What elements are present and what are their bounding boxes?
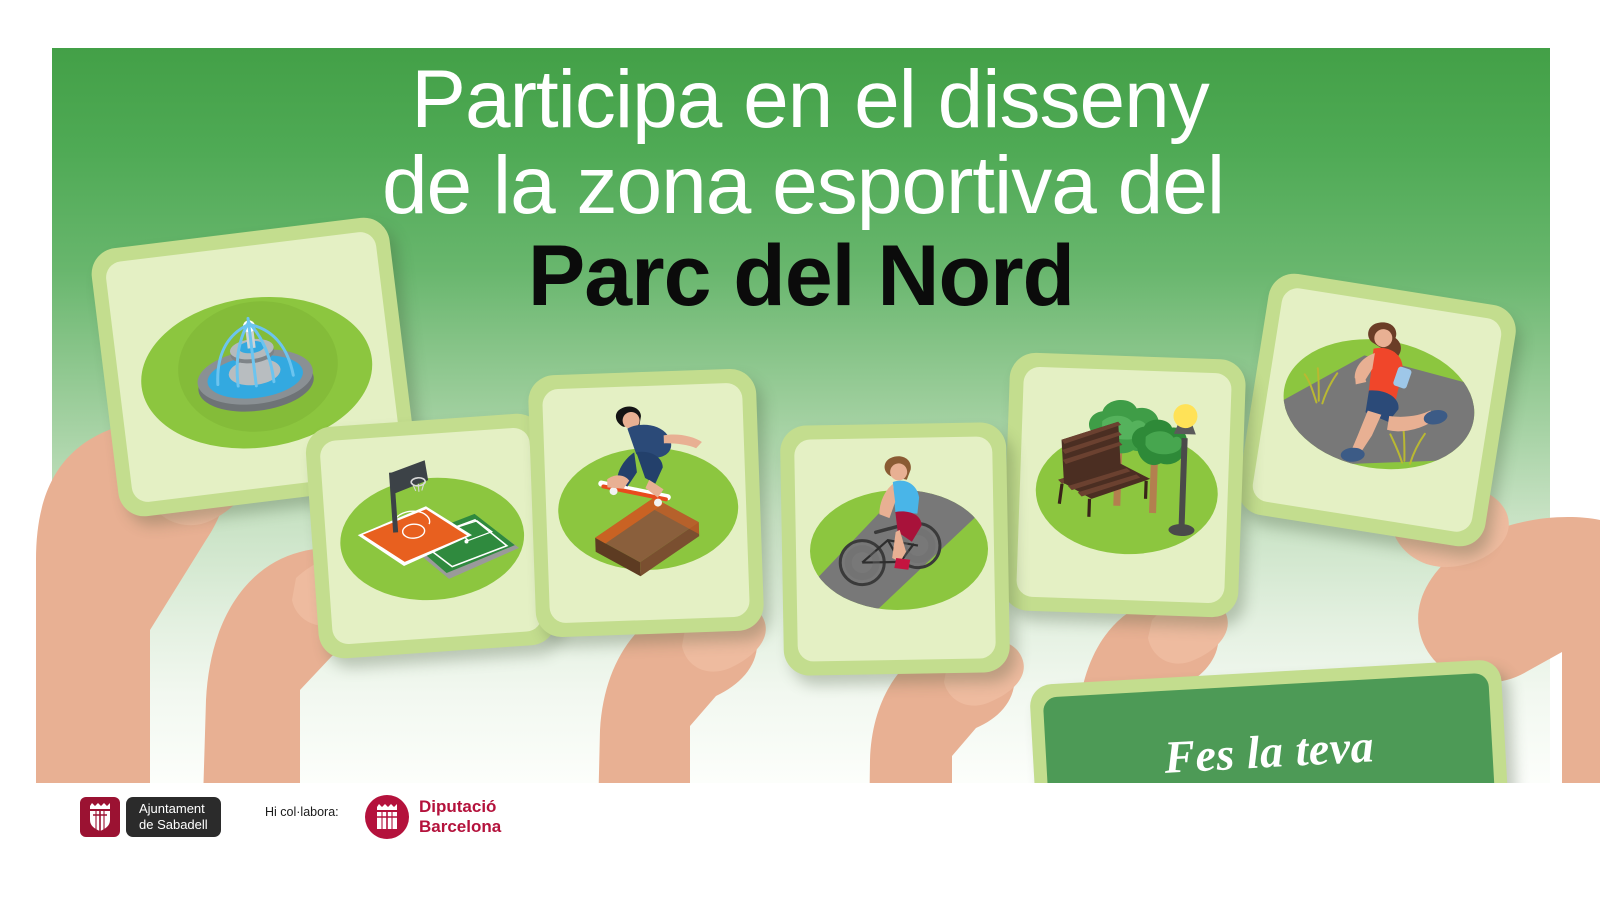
- diputacio-line-2: Barcelona: [419, 817, 501, 837]
- card-bikepath-face: [794, 436, 996, 661]
- collaborate-label: Hi col·labora:: [265, 805, 339, 819]
- card-skatepark-face: [542, 383, 750, 624]
- diputacio-crest-icon: [365, 795, 409, 839]
- card-sportcourt[interactable]: [304, 412, 558, 660]
- card-skatepark[interactable]: [527, 368, 764, 638]
- diputacio-line-1: Diputació: [419, 797, 501, 817]
- card-benchtrees-face: [1016, 366, 1232, 603]
- card-bikepath[interactable]: [780, 422, 1010, 676]
- footer-bar: Ajuntament de Sabadell Hi col·labora: Di…: [0, 783, 1600, 900]
- diputacio-logo[interactable]: Diputació Barcelona: [365, 793, 501, 841]
- sabadell-crest-icon: [80, 797, 120, 837]
- ajuntament-name-box: Ajuntament de Sabadell: [126, 797, 221, 838]
- bikepath-icon: [794, 436, 996, 661]
- crest-tower-icon: [372, 802, 402, 832]
- diputacio-name: Diputació Barcelona: [419, 797, 501, 837]
- poster-canvas: Participa en el disseny de la zona espor…: [0, 0, 1600, 900]
- card-runningpath[interactable]: [1234, 270, 1519, 550]
- ajuntament-line-1: Ajuntament: [139, 801, 208, 817]
- ajuntament-logo[interactable]: Ajuntament de Sabadell: [80, 797, 221, 837]
- ajuntament-line-2: de Sabadell: [139, 817, 208, 833]
- benchtrees-icon: [1016, 366, 1232, 603]
- card-sportcourt-face: [319, 427, 543, 645]
- runner-icon: [1250, 286, 1503, 534]
- card-runningpath-face: [1250, 286, 1503, 534]
- skater-icon: [542, 383, 750, 624]
- crest-shield-icon: [86, 802, 114, 832]
- card-benchtrees[interactable]: [1002, 352, 1247, 618]
- sportcourt-icon: [319, 427, 543, 645]
